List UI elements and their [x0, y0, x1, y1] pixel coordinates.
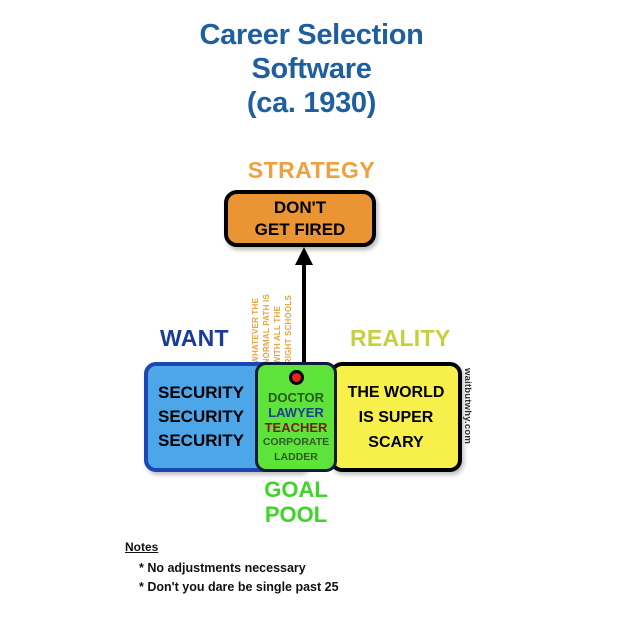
- reality-panel: THE WORLD IS SUPER SCARY: [330, 362, 462, 472]
- notes-item-2: * Don't you dare be single past 25: [125, 578, 339, 597]
- want-item-3: SECURITY: [158, 429, 244, 453]
- red-dot-marker: [289, 370, 304, 385]
- diagram-canvas: Career Selection Software (ca. 1930) STR…: [0, 0, 623, 618]
- title-line-2: Software: [0, 52, 623, 86]
- reality-line-3: SCARY: [368, 430, 423, 455]
- strategy-box-line-2: GET FIRED: [255, 219, 346, 240]
- reality-line-2: IS SUPER: [359, 405, 434, 430]
- want-item-1: SECURITY: [158, 381, 244, 405]
- strategy-box: DON'T GET FIRED: [224, 190, 376, 247]
- goal-item-doctor: DOCTOR: [268, 390, 324, 405]
- title-line-1: Career Selection: [0, 18, 623, 52]
- path-note-line-3: WITH ALL THE: [272, 306, 283, 364]
- title-line-3: (ca. 1930): [0, 86, 623, 120]
- page-title: Career Selection Software (ca. 1930): [0, 18, 623, 121]
- strategy-label: STRATEGY: [0, 157, 623, 184]
- goal-item-ladder: LADDER: [274, 450, 318, 465]
- watermark: waitbutwhy.com: [462, 368, 473, 444]
- goal-pool-label-line-1: GOAL: [236, 478, 356, 503]
- want-item-2: SECURITY: [158, 405, 244, 429]
- goal-item-corporate: CORPORATE: [263, 435, 329, 450]
- reality-label: REALITY: [350, 325, 451, 352]
- goal-pool-label-line-2: POOL: [236, 503, 356, 528]
- goal-pool-label: GOAL POOL: [236, 478, 356, 527]
- path-note-line-2: NORMAL PATH IS: [261, 294, 272, 364]
- path-note-line-4: RIGHT SCHOOLS: [283, 295, 294, 364]
- reality-line-1: THE WORLD: [348, 380, 445, 405]
- notes-title: Notes: [125, 540, 339, 554]
- goal-item-lawyer: LAWYER: [268, 405, 324, 420]
- goal-item-teacher: TEACHER: [265, 420, 328, 435]
- path-note-line-1: WHATEVER THE: [250, 298, 261, 364]
- strategy-box-line-1: DON'T: [274, 197, 326, 218]
- notes-item-1: * No adjustments necessary: [125, 559, 339, 578]
- notes-block: Notes * No adjustments necessary * Don't…: [125, 540, 339, 597]
- want-label: WANT: [160, 325, 229, 352]
- normal-path-annotation: WHATEVER THE NORMAL PATH IS WITH ALL THE…: [250, 272, 296, 364]
